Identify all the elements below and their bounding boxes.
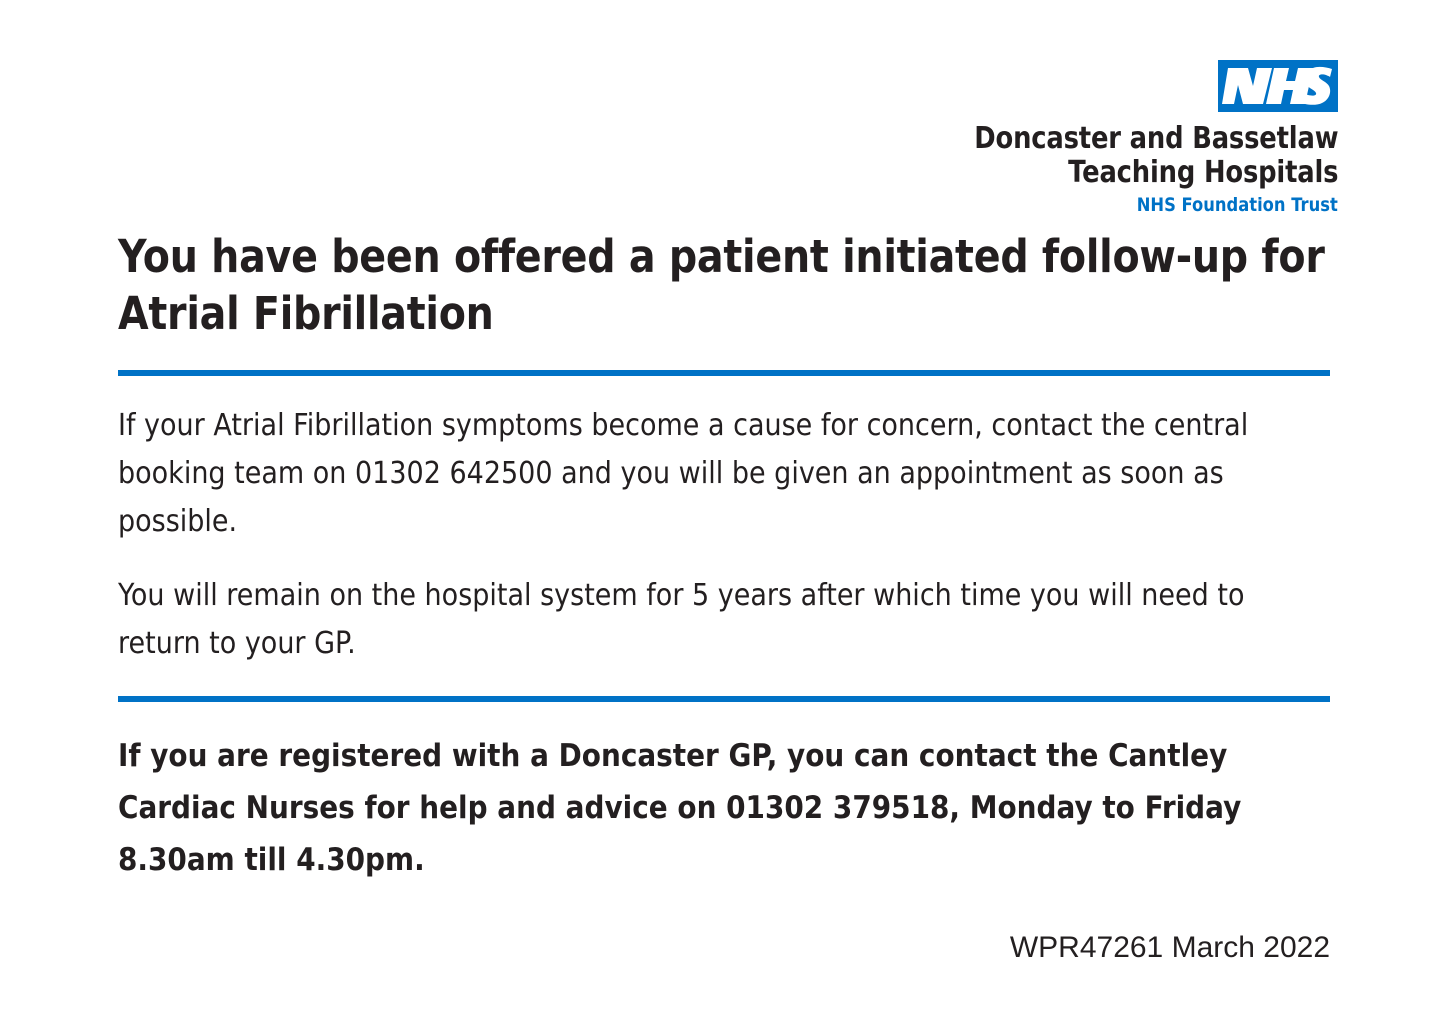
leaflet-content: You have been offered a patient initiate…: [118, 228, 1330, 886]
trust-header: Doncaster and Bassetlaw Teaching Hospita…: [0, 0, 1338, 216]
trust-name-line-1: Doncaster and Bassetlaw: [974, 122, 1338, 156]
leaflet-page: Doncaster and Bassetlaw Teaching Hospita…: [0, 0, 1446, 1023]
trust-subtitle: NHS Foundation Trust: [1137, 194, 1338, 216]
trust-name: Doncaster and Bassetlaw Teaching Hospita…: [974, 122, 1338, 190]
nhs-logo: [1218, 60, 1338, 112]
paragraph-booking-contact: If your Atrial Fibrillation symptoms bec…: [118, 402, 1329, 546]
body-text-block: If your Atrial Fibrillation symptoms bec…: [118, 376, 1330, 668]
paragraph-cantley-cardiac-nurses: If you are registered with a Doncaster G…: [118, 730, 1329, 886]
highlight-block: If you are registered with a Doncaster G…: [118, 702, 1330, 886]
trust-name-line-2: Teaching Hospitals: [974, 156, 1338, 190]
page-title: You have been offered a patient initiate…: [118, 228, 1330, 342]
document-reference: WPR47261 March 2022: [118, 930, 1330, 966]
paragraph-hospital-system-duration: You will remain on the hospital system f…: [118, 572, 1329, 668]
